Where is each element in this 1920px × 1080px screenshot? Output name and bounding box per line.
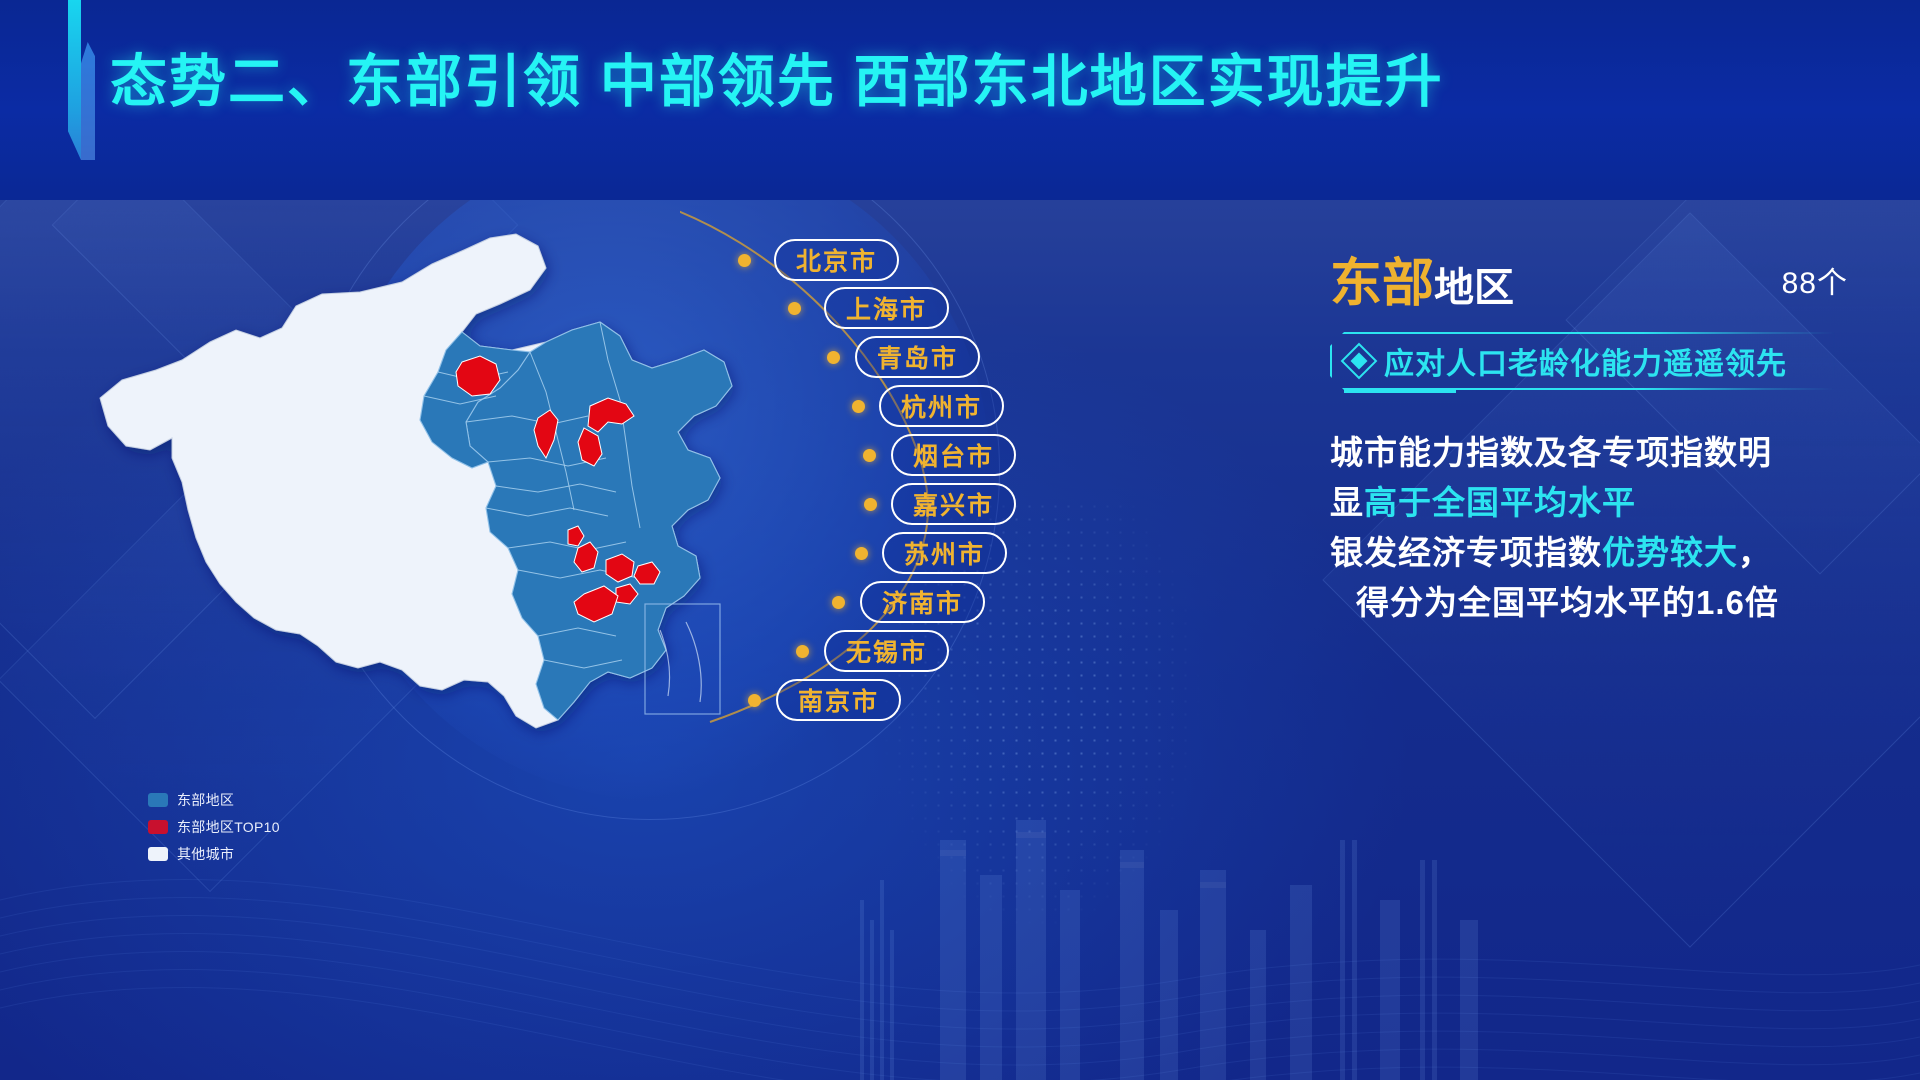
decor-skyline xyxy=(820,780,1520,1080)
panel-body-copy: 城市能力指数及各专项指数明 显高于全国平均水平 银发经济专项指数优势较大， 得分… xyxy=(1330,428,1870,629)
legend-label: 其他城市 xyxy=(177,844,234,864)
city-dot-shanghai xyxy=(788,302,801,315)
body-line-4: 得分为全国平均水平的1.6倍 xyxy=(1330,578,1870,628)
header-accent-bar xyxy=(68,0,98,160)
legend-item: 其他城市 xyxy=(148,844,280,864)
city-dot-beijing xyxy=(738,254,751,267)
city-pill-jiaxing[interactable]: 嘉兴市 xyxy=(891,483,1016,525)
city-dot-qingdao xyxy=(827,351,840,364)
city-dot-suzhou xyxy=(855,547,868,560)
city-pill-hangzhou[interactable]: 杭州市 xyxy=(879,385,1004,427)
city-pill-suzhou[interactable]: 苏州市 xyxy=(882,532,1007,574)
body-line-2: 显高于全国平均水平 xyxy=(1330,478,1870,528)
accent-bar-front xyxy=(68,0,81,160)
legend-label: 东部地区TOP10 xyxy=(177,817,280,837)
panel-subheading-box: 应对人口老龄化能力遥遥领先 xyxy=(1330,332,1835,390)
legend-swatch-other xyxy=(148,847,168,861)
city-pill-shanghai[interactable]: 上海市 xyxy=(824,287,949,329)
city-pill-jinan[interactable]: 济南市 xyxy=(860,581,985,623)
legend-item: 东部地区TOP10 xyxy=(148,817,280,837)
body-seg-highlight: 优势较大 xyxy=(1602,534,1738,571)
body-seg: 得分为全国平均水平的1.6倍 xyxy=(1356,584,1779,621)
body-seg: 城市能力指数及各专项指数明 xyxy=(1330,434,1772,471)
body-seg: ， xyxy=(1738,534,1772,571)
body-seg-highlight: 高于全国平均水平 xyxy=(1364,484,1636,521)
body-seg: 显 xyxy=(1330,484,1364,521)
right-info-panel: 东部地区 88个 应对人口老龄化能力遥遥领先 城市能力指数及各专项指数明 显高于… xyxy=(1330,240,1870,629)
body-line-1: 城市能力指数及各专项指数明 xyxy=(1330,428,1870,478)
map-legend: 东部地区 东部地区TOP10 其他城市 xyxy=(148,790,280,871)
slide-header: 态势二、东部引领 中部领先 西部东北地区实现提升 xyxy=(0,0,1920,200)
legend-swatch-east xyxy=(148,793,168,807)
body-line-3: 银发经济专项指数优势较大， xyxy=(1330,528,1870,578)
page-title: 态势二、东部引领 中部领先 西部东北地区实现提升 xyxy=(110,36,1444,118)
panel-subheading-text: 应对人口老龄化能力遥遥领先 xyxy=(1384,339,1787,383)
legend-item: 东部地区 xyxy=(148,790,280,810)
city-pill-beijing[interactable]: 北京市 xyxy=(774,239,899,281)
city-pill-yantai[interactable]: 烟台市 xyxy=(891,434,1016,476)
region-title-gold: 东部 xyxy=(1330,255,1434,313)
panel-header: 东部地区 88个 xyxy=(1330,240,1870,310)
city-dot-yantai xyxy=(863,449,876,462)
city-dot-jiaxing xyxy=(864,498,877,511)
region-count: 88个 xyxy=(1782,258,1848,302)
subheading-underline xyxy=(1344,389,1456,393)
city-dot-nanjing xyxy=(748,694,761,707)
city-dot-hangzhou xyxy=(852,400,865,413)
city-pill-qingdao[interactable]: 青岛市 xyxy=(855,336,980,378)
city-dot-wuxi xyxy=(796,645,809,658)
region-title: 东部地区 xyxy=(1330,258,1514,310)
legend-label: 东部地区 xyxy=(177,790,234,810)
region-title-white: 地区 xyxy=(1434,266,1514,310)
city-arc-list: 北京市 上海市 青岛市 杭州市 烟台市 嘉兴市 苏州市 济南市 无锡市 南京市 xyxy=(680,210,1100,770)
city-dot-jinan xyxy=(832,596,845,609)
body-seg: 银发经济专项指数 xyxy=(1330,534,1602,571)
legend-swatch-top10 xyxy=(148,820,168,834)
accent-bar-back xyxy=(81,42,95,160)
city-pill-wuxi[interactable]: 无锡市 xyxy=(824,630,949,672)
city-pill-nanjing[interactable]: 南京市 xyxy=(776,679,901,721)
slide-root: 东部地区 东部地区TOP10 其他城市 北京市 上海市 青岛市 杭州市 烟台市 … xyxy=(0,0,1920,1080)
